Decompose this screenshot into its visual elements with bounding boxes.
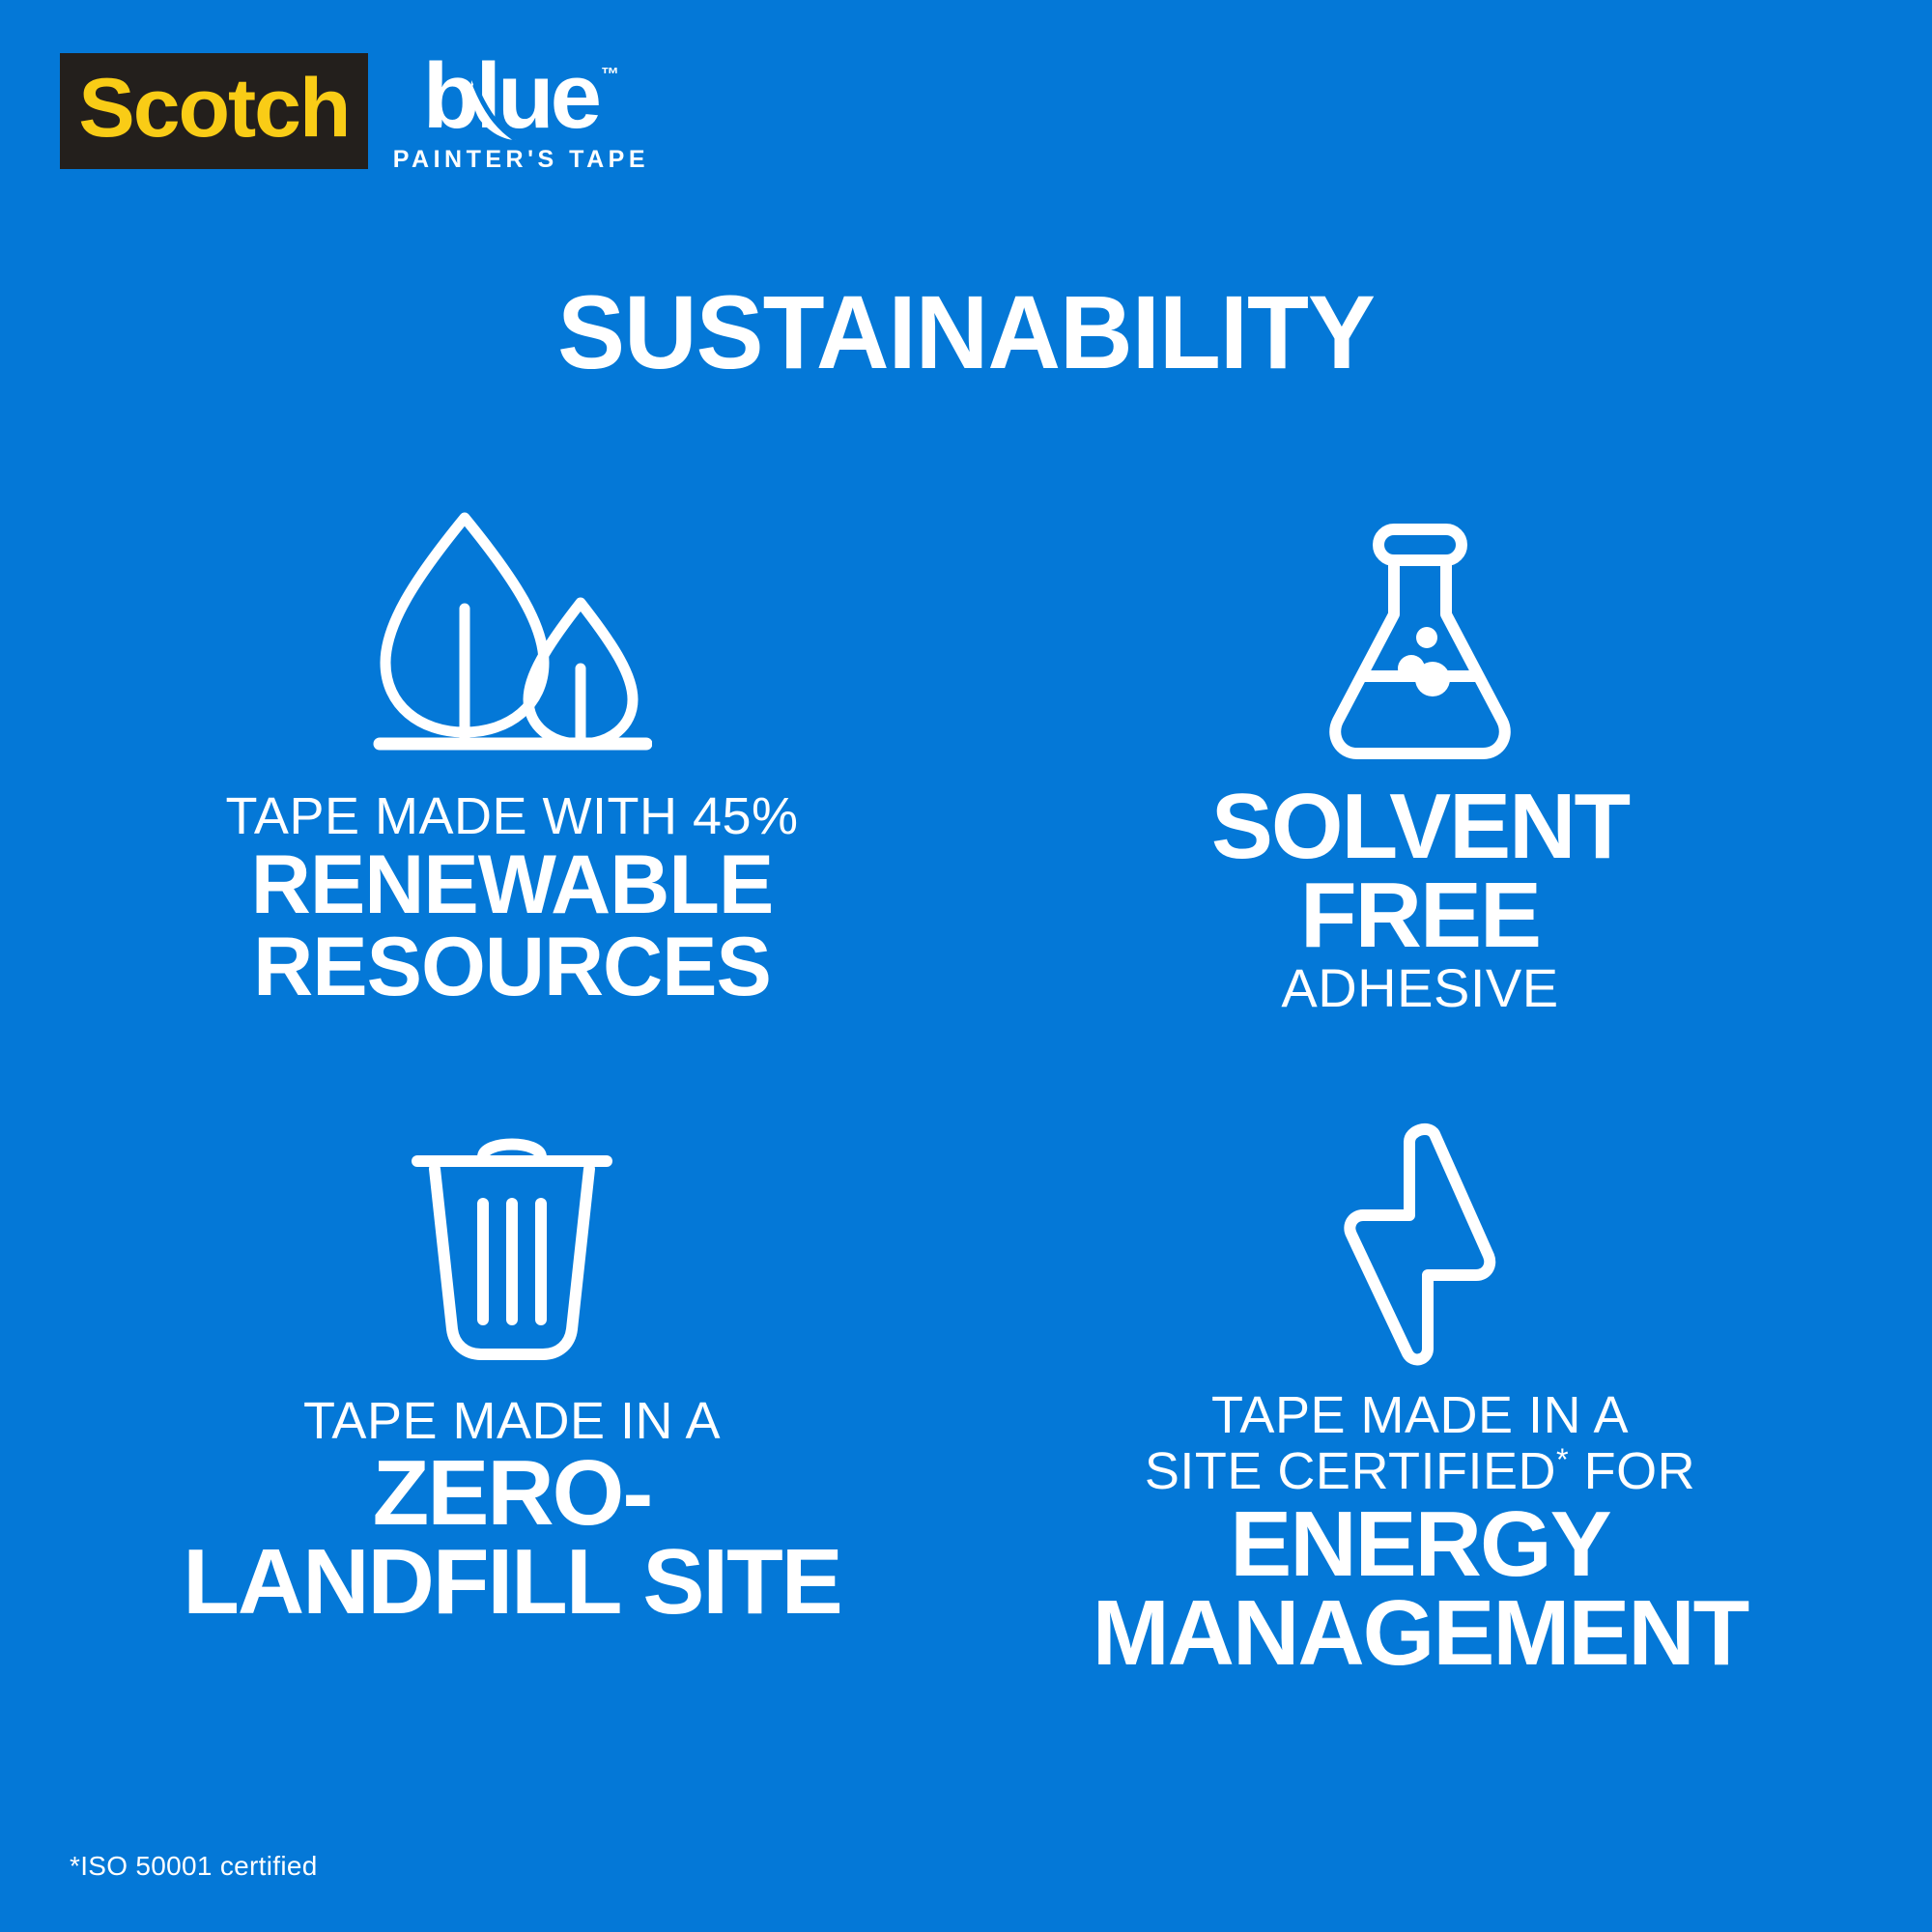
lightning-bolt-icon — [1328, 1121, 1512, 1372]
brand-lockup: Scotch blue ™ PAINTER'S TAPE — [60, 53, 649, 174]
blue-wordmark-group: blue ™ — [423, 55, 619, 138]
tape-peel-icon — [466, 76, 533, 150]
feature-landfill-caption: TAPE MADE IN A ZERO- LANDFILL SITE — [183, 1393, 841, 1628]
scotch-logo-plate: Scotch — [60, 53, 368, 169]
feature-solvent-caption: SOLVENT FREE ADHESIVE — [1211, 782, 1629, 1017]
flask-bubbles — [1398, 627, 1450, 696]
energy-line-1: TAPE MADE IN A — [1093, 1387, 1748, 1443]
asterisk-icon: * — [1556, 1442, 1569, 1477]
painters-tape-tagline: PAINTER'S TAPE — [393, 146, 649, 174]
scotch-wordmark: Scotch — [78, 70, 349, 149]
trash-bin-icon — [406, 1130, 618, 1372]
landfill-line-3: LANDFILL SITE — [183, 1538, 841, 1627]
trademark-icon: ™ — [601, 66, 619, 84]
trash-bin-icon-wrap — [406, 1082, 618, 1372]
renewable-line-1: TAPE MADE WITH 45% — [225, 788, 798, 844]
landfill-line-2: ZERO- — [183, 1449, 841, 1538]
footnote-iso-certification: *ISO 50001 certified — [70, 1851, 318, 1882]
lightning-bolt-icon-wrap — [1328, 1082, 1512, 1372]
page-title: SUSTAINABILITY — [29, 280, 1903, 384]
scotchblue-logo: blue ™ PAINTER'S TAPE — [393, 53, 649, 174]
leaves-icon — [372, 502, 652, 763]
energy-line-4: MANAGEMENT — [1093, 1589, 1748, 1678]
energy-line-2: SITE CERTIFIED* FOR — [1093, 1443, 1748, 1499]
feature-grid: TAPE MADE WITH 45% RENEWABLE RESOURCES — [58, 483, 1874, 1681]
feature-renewable-resources: TAPE MADE WITH 45% RENEWABLE RESOURCES — [58, 483, 966, 1082]
solvent-line-1: SOLVENT — [1211, 782, 1629, 871]
solvent-line-3: ADHESIVE — [1211, 960, 1629, 1017]
leaves-icon-wrap — [372, 483, 652, 763]
feature-zero-landfill: TAPE MADE IN A ZERO- LANDFILL SITE — [58, 1082, 966, 1681]
feature-energy-management: TAPE MADE IN A SITE CERTIFIED* FOR ENERG… — [966, 1082, 1874, 1681]
feature-renewable-caption: TAPE MADE WITH 45% RENEWABLE RESOURCES — [225, 788, 798, 1008]
feature-solvent-free: SOLVENT FREE ADHESIVE — [966, 483, 1874, 1082]
energy-line-3: ENERGY — [1093, 1500, 1748, 1589]
flask-icon-wrap — [1319, 483, 1521, 763]
solvent-line-2: FREE — [1211, 871, 1629, 960]
flask-icon — [1319, 522, 1521, 763]
renewable-line-3: RESOURCES — [225, 926, 798, 1008]
renewable-line-2: RENEWABLE — [225, 844, 798, 925]
feature-energy-caption: TAPE MADE IN A SITE CERTIFIED* FOR ENERG… — [1093, 1387, 1748, 1678]
